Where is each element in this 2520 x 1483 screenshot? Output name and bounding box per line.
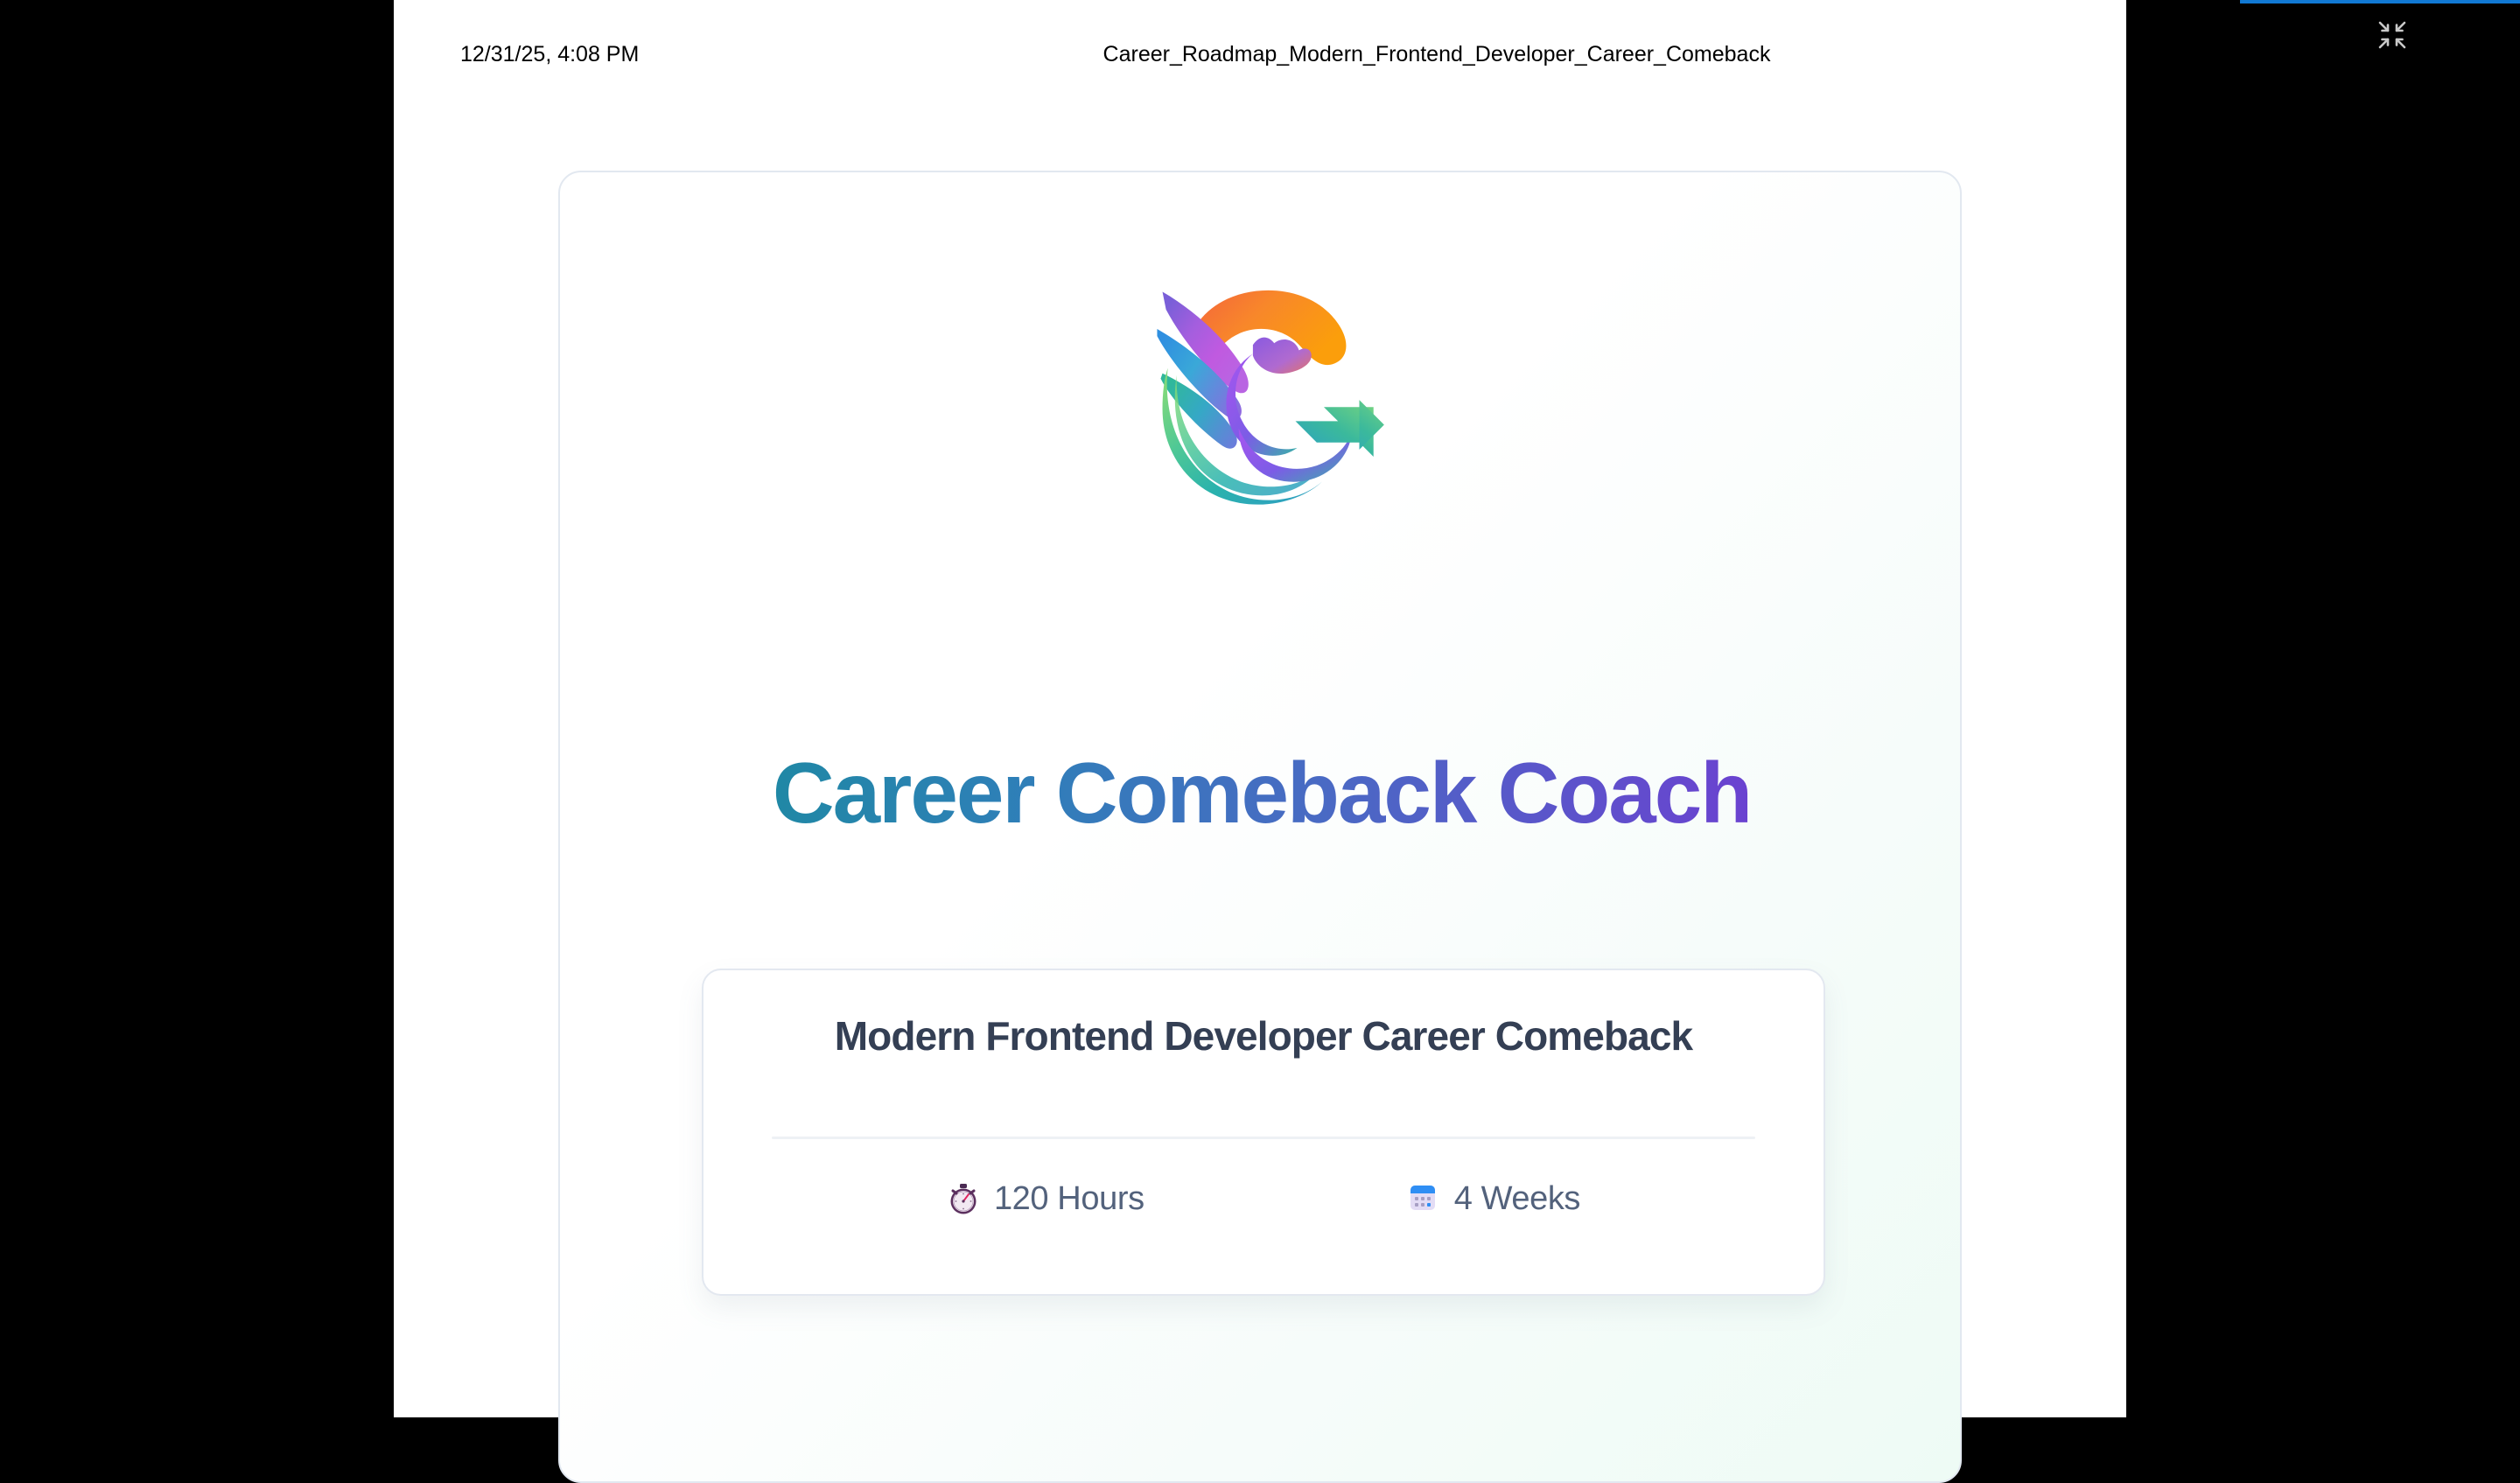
collapse-arrows-icon	[2373, 16, 2411, 54]
card-divider	[772, 1137, 1755, 1139]
roadmap-summary-card: Modern Frontend Developer Career Comebac…	[702, 969, 1825, 1296]
calendar-icon	[1407, 1182, 1442, 1217]
phoenix-comeback-logo-icon	[1127, 260, 1393, 526]
print-header: 12/31/25, 4:08 PM Career_Roadmap_Modern_…	[394, 42, 2126, 77]
stat-item-hours: 120 Hours	[947, 1180, 1144, 1218]
page-title: Career Comeback Coach	[560, 748, 1962, 839]
stat-label-hours: 120 Hours	[994, 1180, 1144, 1218]
print-header-document-title: Career_Roadmap_Modern_Frontend_Developer…	[1103, 42, 1771, 67]
stopwatch-icon	[947, 1182, 982, 1217]
print-header-date: 12/31/25, 4:08 PM	[460, 42, 639, 67]
printed-page-sheet: 12/31/25, 4:08 PM Career_Roadmap_Modern_…	[394, 0, 2126, 1417]
stat-label-weeks: 4 Weeks	[1454, 1180, 1580, 1218]
top-progress-bar	[2240, 0, 2520, 3]
exit-fullscreen-button[interactable]	[2373, 16, 2411, 54]
hero-card: Career Comeback Coach Your personalized …	[558, 171, 1962, 1483]
stat-item-weeks: 4 Weeks	[1407, 1180, 1580, 1218]
roadmap-stats-row: 120 Hours	[703, 1180, 1823, 1218]
roadmap-title: Modern Frontend Developer Career Comebac…	[703, 1012, 1823, 1060]
browser-fullscreen-viewport: 12/31/25, 4:08 PM Career_Roadmap_Modern_…	[0, 0, 2520, 1417]
